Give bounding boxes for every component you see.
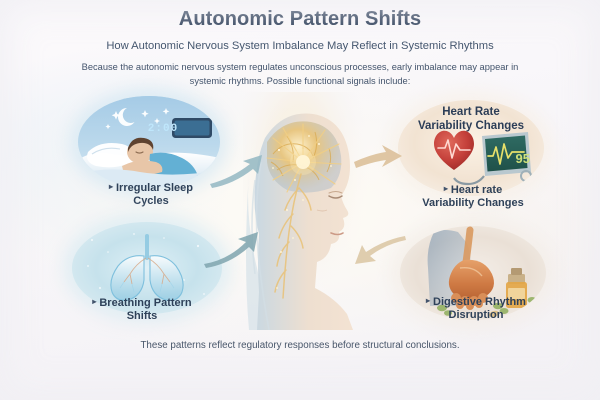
bullet-icon: ▸	[426, 296, 430, 306]
digestive-label-line1: Digestive Rhythm	[433, 296, 526, 308]
heart-heading-line1: Heart Rate	[442, 106, 500, 118]
sleep-label-line2: Cycles	[133, 195, 168, 207]
page-title: Autonomic Pattern Shifts	[0, 8, 600, 31]
heart-label-line2: Variability Changes	[422, 197, 523, 209]
heart-label-line1: Heart rate	[451, 184, 502, 196]
monitor-readout: 95	[494, 148, 530, 166]
breathing-label-line1: Breathing Pattern	[99, 297, 191, 309]
page-subtitle: How Autonomic Nervous System Imbalance M…	[0, 40, 600, 52]
infographic-poster: Autonomic Pattern Shifts How Autonomic N…	[0, 0, 600, 400]
arrow-brain-to-heart	[352, 140, 404, 172]
heart-rate-inner-heading: Heart Rate Variability Changes	[398, 105, 544, 133]
intro-paragraph: Because the autonomic nervous system reg…	[80, 60, 520, 88]
heart-heading-line2: Variability Changes	[418, 120, 524, 132]
breathing-panel-label: ▸Breathing Pattern Shifts	[62, 297, 222, 323]
footer-note: These patterns reflect regulatory respon…	[0, 340, 600, 351]
digestive-label-line2: Disruption	[449, 309, 504, 321]
bullet-icon: ▸	[109, 182, 113, 192]
digestive-panel-label: ▸Digestive Rhythm Disruption	[396, 296, 556, 322]
sleep-panel-label: ▸Irregular Sleep Cycles	[78, 182, 224, 208]
sleep-label-line1: Irregular Sleep	[116, 182, 193, 194]
heart-rate-panel-label: ▸Heart rate Variability Changes	[396, 184, 550, 210]
bullet-icon: ▸	[92, 297, 96, 307]
breathing-label-line2: Shifts	[127, 310, 158, 322]
arrow-breathing-to-brain	[200, 226, 262, 268]
clock-readout: 2:00	[144, 120, 182, 137]
central-brain-figure	[243, 92, 369, 330]
arrow-digestive-to-brain	[352, 234, 408, 270]
arrow-sleep-to-brain	[206, 150, 266, 190]
sleep-illustration: 2:00	[78, 96, 220, 188]
bullet-icon: ▸	[444, 184, 448, 194]
